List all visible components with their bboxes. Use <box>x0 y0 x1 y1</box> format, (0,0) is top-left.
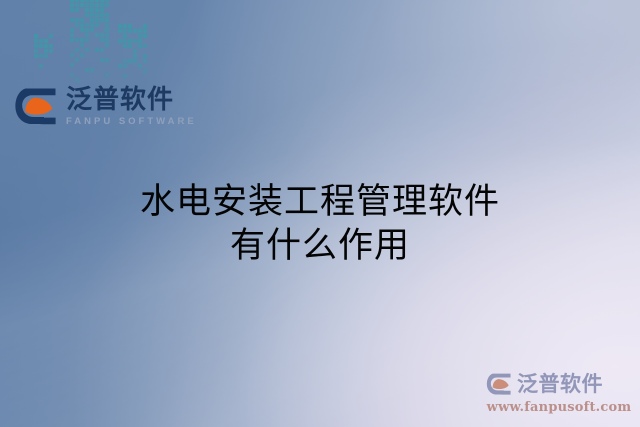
brand-name-en: FANPU SOFTWARE <box>66 117 197 127</box>
watermark-logo-row: 泛普软件 <box>486 372 632 397</box>
fanpu-wave-mark-icon <box>14 86 58 128</box>
pixel-skyline-motif <box>34 0 162 88</box>
watermark: 泛普软件 www.fanpusoft.com <box>486 372 632 415</box>
brand-name-cn: 泛普软件 <box>66 87 197 113</box>
watermark-url: www.fanpusoft.com <box>486 400 632 415</box>
fanpu-wave-mark-watermark-icon <box>486 372 512 397</box>
headline-line-1: 水电安装工程管理软件 <box>0 181 640 223</box>
brand-wordmark: 泛普软件 FANPU SOFTWARE <box>66 87 197 127</box>
promo-banner: 泛普软件 FANPU SOFTWARE 水电安装工程管理软件 有什么作用 泛普软… <box>0 0 640 427</box>
pixel-skyline-canvas <box>34 0 162 88</box>
watermark-brand-name: 泛普软件 <box>517 374 603 395</box>
headline: 水电安装工程管理软件 有什么作用 <box>0 181 640 267</box>
headline-line-2: 有什么作用 <box>0 225 640 267</box>
brand-logo: 泛普软件 FANPU SOFTWARE <box>14 86 197 128</box>
